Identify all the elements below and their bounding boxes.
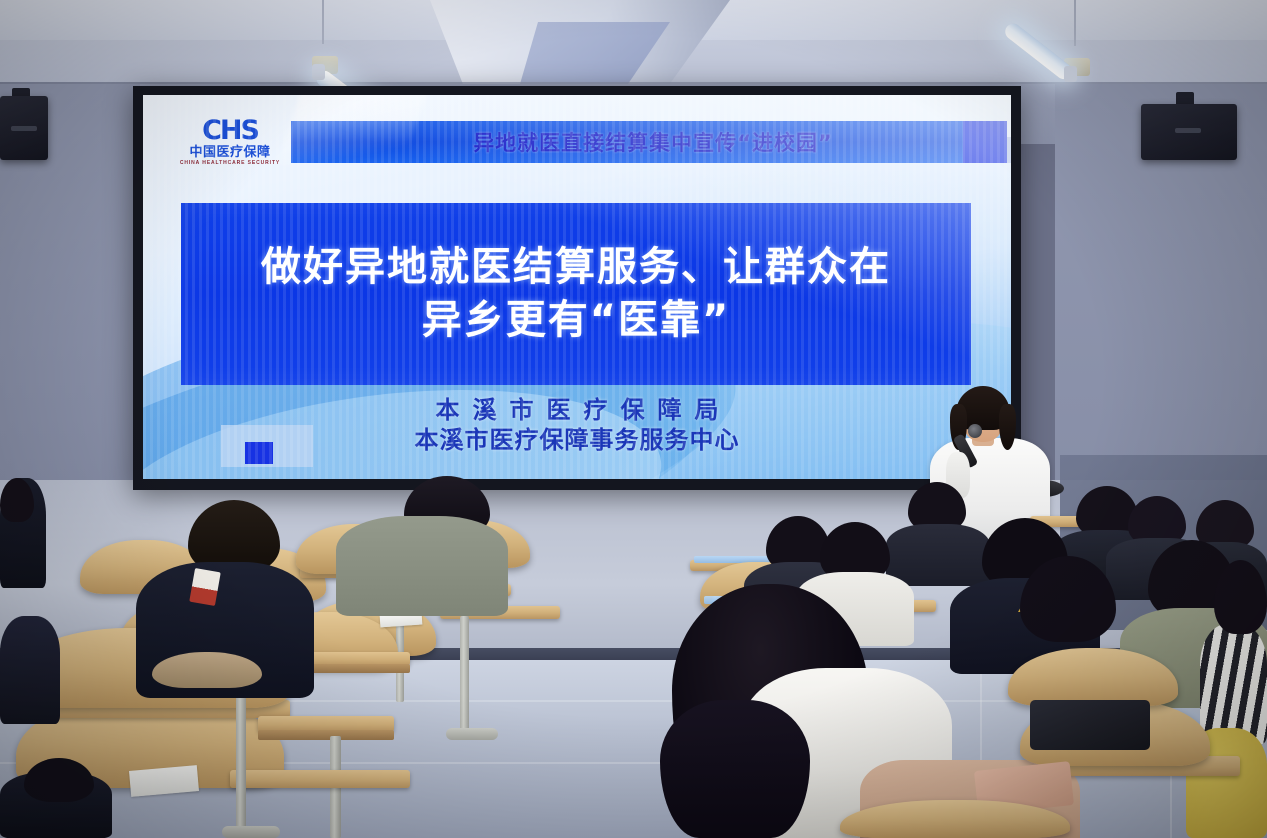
- lecture-hall-photo: CHS 中国医疗保障 CHINA HEALTHCARE SECURITY 异地就…: [0, 0, 1267, 838]
- slide-title-line-2: 异乡更有“医靠”: [422, 294, 731, 347]
- wall-speaker-right: [1141, 104, 1237, 160]
- slide-header: 异地就医直接结算集中宣传“进校园”: [143, 121, 1011, 163]
- desk-foot: [446, 728, 498, 740]
- wall-speaker-left: [0, 96, 48, 160]
- slide-title-line-1: 做好异地就医结算服务、让群众在: [261, 241, 891, 294]
- light-end-cap: [1064, 66, 1077, 82]
- projection-screen-frame: CHS 中国医疗保障 CHINA HEALTHCARE SECURITY 异地就…: [133, 86, 1021, 490]
- speaker-badge: [11, 126, 37, 131]
- microphone-head: [968, 424, 982, 438]
- presentation-slide: CHS 中国医疗保障 CHINA HEALTHCARE SECURITY 异地就…: [143, 95, 1011, 479]
- light-hanger-rod: [322, 0, 324, 44]
- screen-glare: [277, 95, 428, 201]
- speaker-badge: [1175, 128, 1201, 133]
- slide-org-line-2: 本溪市医疗保障事务服务中心: [415, 425, 740, 455]
- desk-top: [230, 770, 410, 788]
- desk-leg: [460, 616, 469, 736]
- attendee-striped-top: [1200, 624, 1267, 744]
- attendee-torso: [0, 616, 60, 724]
- slide-title-block: 做好异地就医结算服务、让群众在 异乡更有“医靠”: [181, 203, 971, 385]
- laptop-bag: [1030, 700, 1150, 750]
- attendee-grey-polo: [336, 516, 508, 616]
- slide-org-line-1: 本溪市医疗保障局: [423, 395, 732, 425]
- slide-organization-block: 本溪市医疗保障局 本溪市医疗保障事务服务中心: [143, 395, 1011, 455]
- attendee-long-hair-lower: [660, 700, 810, 838]
- hat-on-desk: [152, 652, 262, 688]
- attendee-torso: [886, 524, 990, 586]
- desk-edge: [258, 730, 394, 740]
- light-hanger-rod: [1074, 0, 1076, 46]
- light-end-cap: [312, 64, 325, 80]
- desk-foot: [222, 826, 280, 838]
